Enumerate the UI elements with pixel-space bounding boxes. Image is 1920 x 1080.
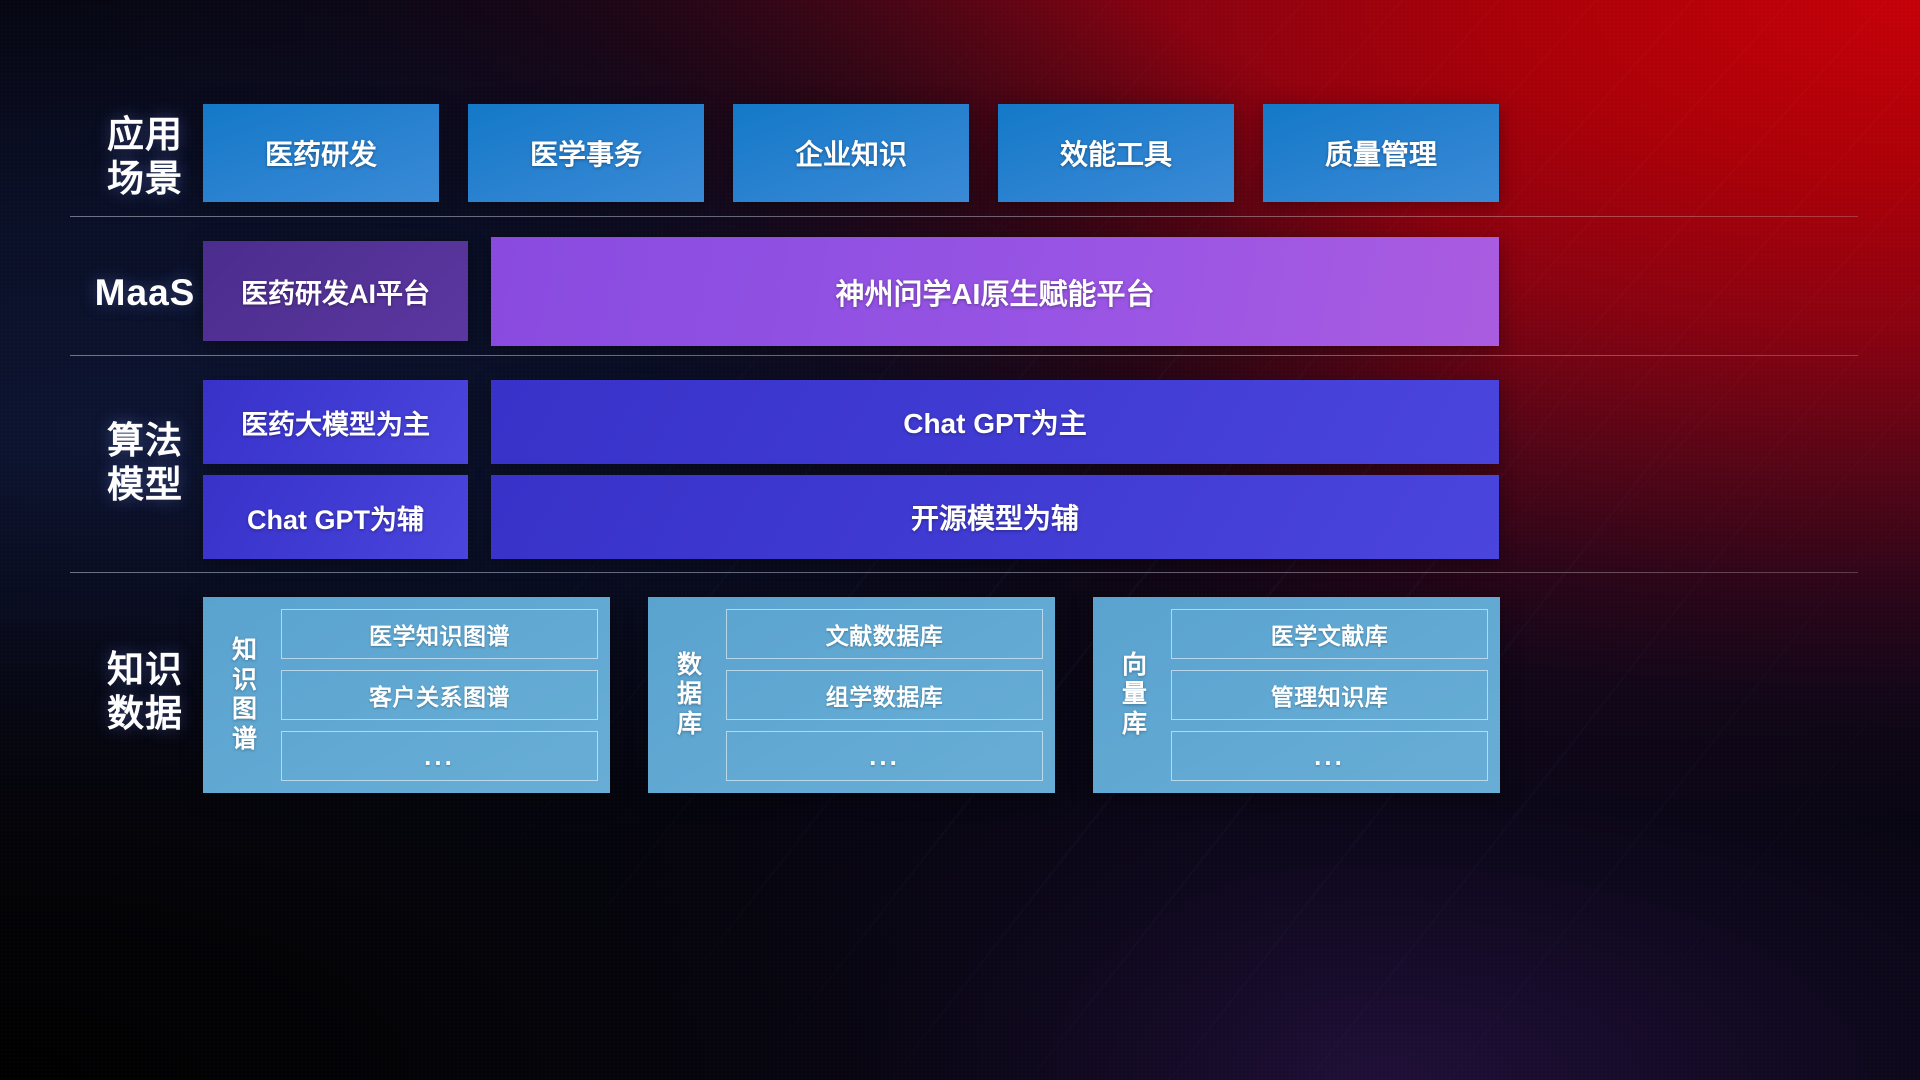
algo-box-medicine-large-model-primary[interactable]: 医药大模型为主 (203, 380, 468, 464)
algo-box-label: Chat GPT为主 (903, 402, 1087, 442)
knowledge-item-more[interactable]: ... (281, 731, 598, 781)
knowledge-panel-vector-store[interactable]: 向 量 库 医学文献库 管理知识库 ... (1093, 597, 1500, 793)
app-box-label: 效能工具 (1060, 133, 1172, 173)
knowledge-panel-title: 数 据 库 (654, 607, 726, 783)
app-box-enterprise-knowledge[interactable]: 企业知识 (733, 104, 969, 202)
knowledge-item[interactable]: 管理知识库 (1171, 670, 1488, 720)
app-box-label: 企业知识 (795, 133, 907, 173)
divider-row-2 (70, 355, 1858, 356)
maas-box-label: 神州问学AI原生赋能平台 (835, 271, 1154, 313)
knowledge-item[interactable]: 医学知识图谱 (281, 609, 598, 659)
knowledge-panel-items: 医学文献库 管理知识库 ... (1171, 607, 1488, 783)
app-box-efficiency-tools[interactable]: 效能工具 (998, 104, 1234, 202)
knowledge-item[interactable]: 医学文献库 (1171, 609, 1488, 659)
app-box-label: 质量管理 (1325, 133, 1437, 173)
knowledge-panel-items: 文献数据库 组学数据库 ... (726, 607, 1043, 783)
knowledge-item-more[interactable]: ... (1171, 731, 1488, 781)
row-label-application-scenarios: 应用 场景 (70, 113, 220, 202)
knowledge-item[interactable]: 组学数据库 (726, 670, 1043, 720)
row-label-maas: MaaS (70, 271, 220, 315)
knowledge-panel-title: 知 识 图 谱 (209, 607, 281, 783)
algo-box-label: Chat GPT为辅 (247, 498, 424, 537)
algo-box-chatgpt-secondary[interactable]: Chat GPT为辅 (203, 475, 468, 559)
app-box-medicine-rd[interactable]: 医药研发 (203, 104, 439, 202)
knowledge-item-more[interactable]: ... (726, 731, 1043, 781)
divider-row-1 (70, 216, 1858, 217)
maas-box-label: 医药研发AI平台 (241, 272, 430, 311)
divider-row-3 (70, 572, 1858, 573)
algo-box-label: 医药大模型为主 (241, 403, 430, 442)
slide-canvas: 应用 场景 医药研发 医学事务 企业知识 效能工具 质量管理 MaaS 医药研发… (0, 0, 1920, 1080)
app-box-label: 医药研发 (265, 133, 377, 173)
app-box-label: 医学事务 (530, 133, 642, 173)
algo-box-label: 开源模型为辅 (911, 497, 1079, 537)
row-label-knowledge-data: 知识 数据 (70, 648, 220, 737)
row-label-algorithm-model: 算法 模型 (70, 419, 220, 508)
knowledge-panel-knowledge-graph[interactable]: 知 识 图 谱 医学知识图谱 客户关系图谱 ... (203, 597, 610, 793)
maas-box-shenzhou-wenxue-platform[interactable]: 神州问学AI原生赋能平台 (491, 237, 1499, 346)
maas-box-medicine-ai-platform[interactable]: 医药研发AI平台 (203, 241, 468, 341)
knowledge-panel-database[interactable]: 数 据 库 文献数据库 组学数据库 ... (648, 597, 1055, 793)
app-box-quality-management[interactable]: 质量管理 (1263, 104, 1499, 202)
knowledge-item[interactable]: 客户关系图谱 (281, 670, 598, 720)
knowledge-panel-items: 医学知识图谱 客户关系图谱 ... (281, 607, 598, 783)
knowledge-item[interactable]: 文献数据库 (726, 609, 1043, 659)
knowledge-panel-title: 向 量 库 (1099, 607, 1171, 783)
algo-box-chatgpt-primary[interactable]: Chat GPT为主 (491, 380, 1499, 464)
app-box-medical-affairs[interactable]: 医学事务 (468, 104, 704, 202)
algo-box-opensource-model-secondary[interactable]: 开源模型为辅 (491, 475, 1499, 559)
